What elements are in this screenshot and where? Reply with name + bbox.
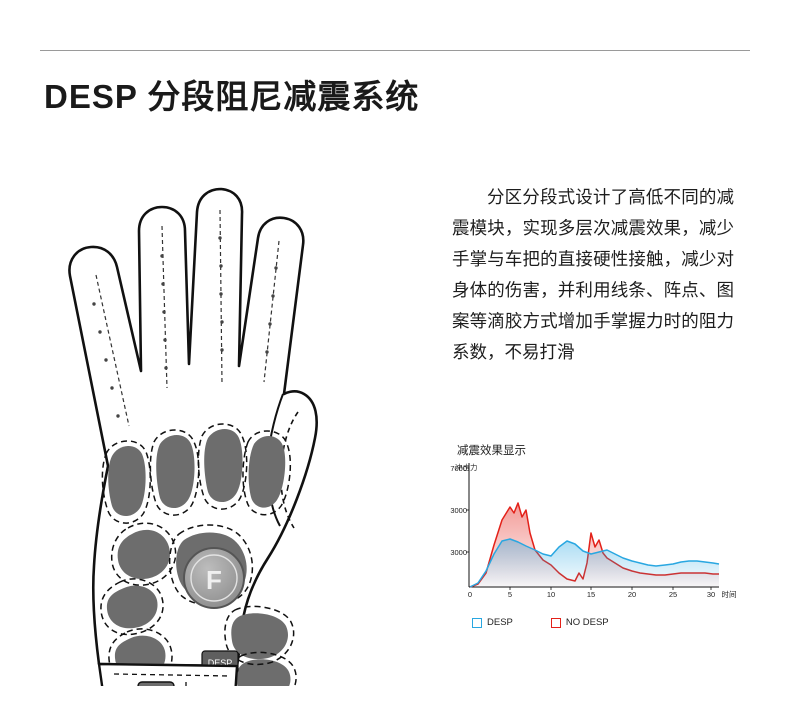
- legend-swatch-no-desp-icon: [551, 618, 561, 628]
- wrist-brand: FLYGEND: [138, 682, 174, 686]
- legend-item-desp: DESP: [472, 617, 513, 628]
- svg-text:3000: 3000: [450, 548, 467, 557]
- palm-logo-letter: F: [206, 565, 222, 595]
- svg-text:20: 20: [628, 590, 636, 599]
- legend-label-no-desp: NO DESP: [566, 617, 609, 628]
- shock-absorption-chart: 减震效果显示 冲击力 7000 3000 3000: [447, 437, 745, 649]
- chart-x-axis-label: 时间: [722, 589, 737, 599]
- glove-illustration: DESP F FLYGEND: [36, 126, 436, 686]
- chart-legend: DESP NO DESP: [472, 617, 609, 628]
- svg-text:30: 30: [707, 590, 715, 599]
- chart-plot: 7000 3000 3000 0 5 10 15 20 25 30 时间: [447, 455, 745, 625]
- legend-label-desp: DESP: [487, 617, 513, 628]
- svg-text:5: 5: [508, 590, 512, 599]
- page-title: DESP 分段阻尼减震系统: [44, 70, 419, 118]
- legend-swatch-desp-icon: [472, 618, 482, 628]
- chart-x-ticks: 0 5 10 15 20 25 30 时间: [468, 589, 737, 599]
- svg-text:10: 10: [547, 590, 555, 599]
- legend-item-no-desp: NO DESP: [551, 617, 609, 628]
- description-text: 分区分段式设计了高低不同的减震模块，实现多层次减震效果，减少手掌与车把的直接硬性…: [452, 182, 734, 368]
- svg-text:15: 15: [587, 590, 595, 599]
- svg-text:0: 0: [468, 590, 472, 599]
- header-divider: [40, 50, 750, 51]
- svg-text:25: 25: [669, 590, 677, 599]
- palm-logo: F: [184, 548, 244, 608]
- svg-text:7000: 7000: [450, 464, 467, 473]
- chart-y-ticks: 7000 3000 3000: [450, 464, 467, 557]
- svg-text:3000: 3000: [450, 506, 467, 515]
